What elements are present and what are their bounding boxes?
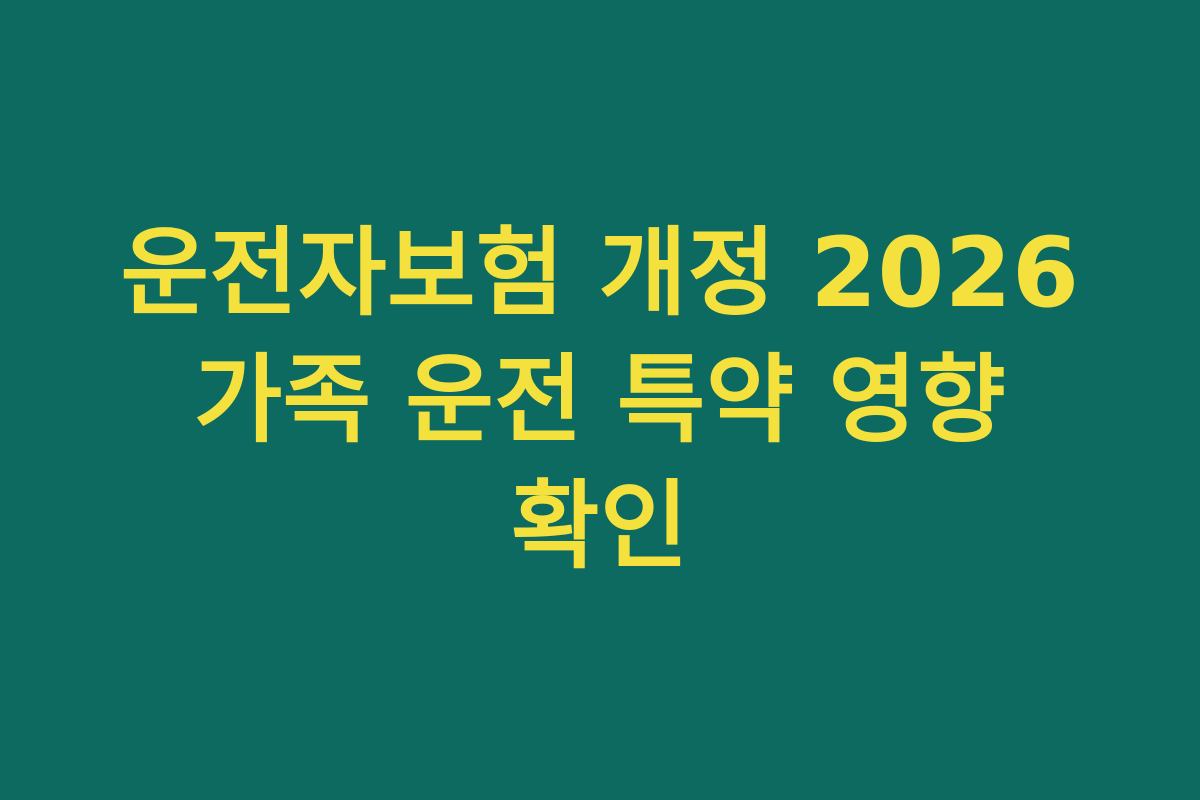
headline-container: 운전자보험 개정 2026 가족 운전 특약 영향 확인 [0, 210, 1200, 590]
banner-canvas: 운전자보험 개정 2026 가족 운전 특약 영향 확인 [0, 0, 1200, 800]
page-title: 운전자보험 개정 2026 가족 운전 특약 영향 확인 [110, 210, 1090, 590]
